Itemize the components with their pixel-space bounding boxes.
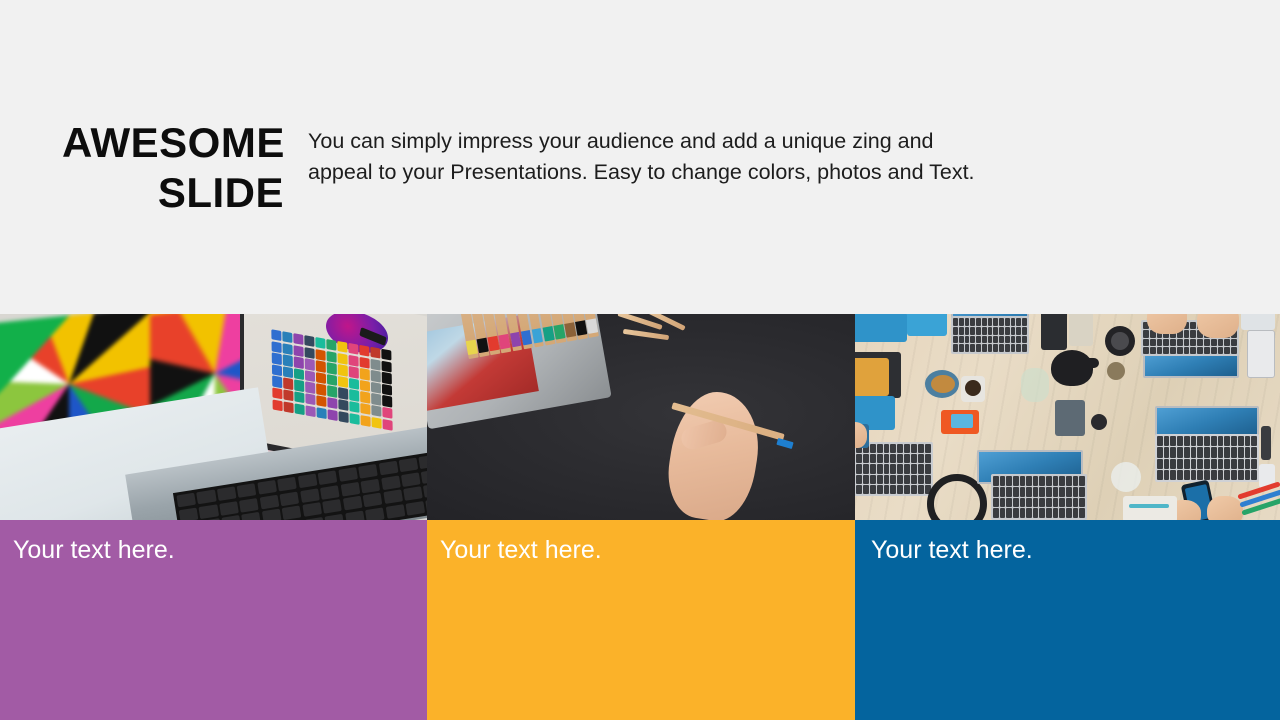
description-line-1: You can simply impress your audience and…: [308, 126, 1068, 157]
caption-panel-purple[interactable]: Your text here.: [0, 520, 427, 720]
title-line-1: AWESOME: [62, 118, 284, 168]
photo3-glass-bottle: [1021, 368, 1049, 402]
photo3-chart-paper: [1123, 496, 1177, 520]
photo3-laptop-bottom-keyboard: [991, 474, 1087, 520]
caption-label-blue: Your text here.: [871, 533, 1033, 567]
photo3-teapot-spout: [1083, 358, 1099, 368]
photo3-hand-bottom-right: [1207, 496, 1243, 520]
photo3-yellow-notebook: [855, 358, 889, 396]
photo3-hand-typing-left: [1147, 314, 1187, 334]
photo3-orange-case-screen: [951, 414, 973, 428]
photo3-water-glass: [1111, 462, 1141, 492]
title-line-2: SLIDE: [62, 168, 284, 218]
slide-description: You can simply impress your audience and…: [308, 118, 1068, 188]
photo3-notepad-top: [1069, 314, 1093, 346]
caption-panel-orange[interactable]: Your text here.: [427, 520, 855, 720]
photo3-teapot: [1051, 350, 1093, 386]
photo3-black-cup-inner: [1111, 332, 1129, 350]
caption-label-purple: Your text here.: [13, 533, 175, 567]
photo3-snacks: [931, 375, 955, 393]
caption-bars: Your text here. Your text here. Your tex…: [0, 520, 1280, 720]
photo-strip: [0, 314, 1280, 520]
photo3-coffee: [965, 380, 981, 396]
photo3-paper-right: [1241, 314, 1275, 330]
photo3-blue-notebook-2: [907, 314, 947, 336]
description-line-2: appeal to your Presentations. Easy to ch…: [308, 157, 1068, 188]
photo-hand-drawing-with-pencil: [427, 314, 855, 520]
photo3-laptop-top-keyboard: [951, 316, 1029, 354]
photo-laptop-with-colorful-icon-grid: [0, 314, 427, 520]
presentation-slide: AWESOME SLIDE You can simply impress you…: [0, 0, 1280, 720]
photo3-pen-right: [1261, 426, 1271, 460]
photo3-laptop-left-keyboard: [855, 442, 933, 496]
caption-panel-blue[interactable]: Your text here.: [855, 520, 1280, 720]
slide-header: AWESOME SLIDE You can simply impress you…: [0, 118, 1280, 238]
photo3-phone-right: [1247, 330, 1275, 378]
photo3-chart-bar: [1129, 504, 1169, 508]
photo3-laptop-bottomright-keyboard: [1155, 434, 1259, 482]
photo-overhead-team-workspace: [855, 314, 1280, 520]
photo3-small-bowl: [1107, 362, 1125, 380]
photo3-hard-drive: [1055, 400, 1085, 436]
photo3-phone-top: [1041, 314, 1067, 350]
page-title: AWESOME SLIDE: [62, 118, 284, 218]
photo3-blue-notebook: [855, 314, 907, 342]
photo3-hand-typing-right: [1197, 314, 1239, 338]
caption-label-orange: Your text here.: [440, 533, 602, 567]
photo3-lens-cap: [1091, 414, 1107, 430]
